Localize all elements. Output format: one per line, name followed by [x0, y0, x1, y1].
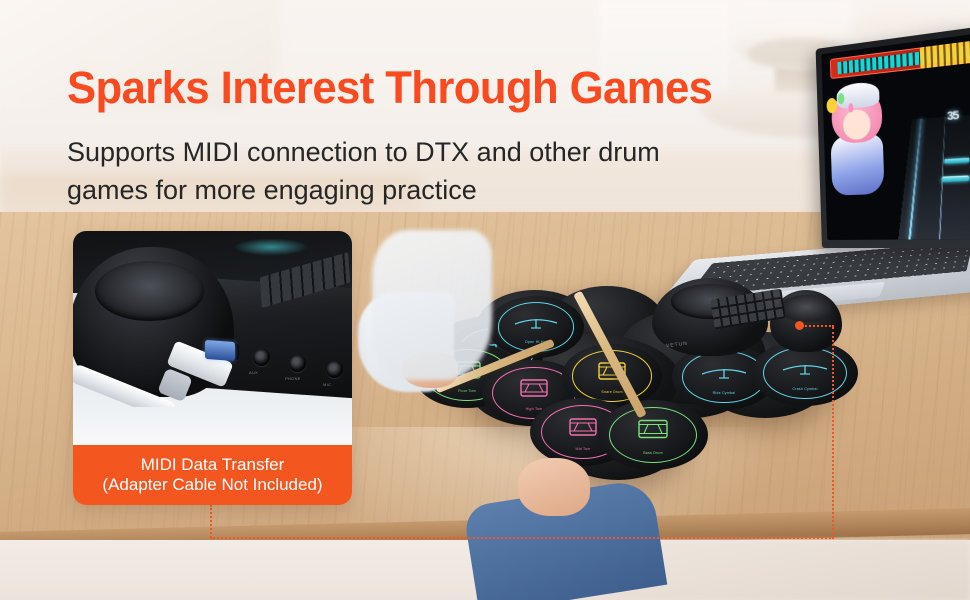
laptop-lid: 35 [816, 12, 970, 248]
inset-audio-jack-aux [253, 349, 270, 366]
pad-label: Ride Cymbal [672, 391, 776, 395]
inset-caption: MIDI Data Transfer (Adapter Cable Not In… [73, 445, 352, 505]
page-subtitle: Supports MIDI connection to DTX and othe… [67, 133, 707, 210]
inset-jack-label-mic: MIC [323, 382, 331, 387]
connector-dash-right [832, 327, 834, 538]
connector-dash-left [210, 505, 212, 538]
roll-up-drum-kit: Crash Cymbal Open Hi-Hat Floor Tom [430, 288, 860, 488]
subtitle-line-1: Supports MIDI connection to DTX and othe… [67, 133, 707, 171]
pad-label: Bass Drum [598, 451, 708, 455]
connector-dash-bottom [210, 537, 834, 539]
person-shoulder [372, 230, 492, 380]
midi-port-inset-card: AUX PHONE MIC MIDI Data Transfer (Adapte… [73, 231, 352, 505]
inset-audio-jack-mic [326, 361, 343, 378]
promo-banner: 35 Crash Cymbal [0, 0, 970, 600]
drum-control-module[interactable]: VETUN [652, 276, 842, 384]
game-note [945, 157, 970, 164]
subtitle-line-2: games for more engaging practice [67, 171, 707, 209]
pad-label: Snare Drum [562, 390, 662, 394]
inset-audio-jack-phone [289, 355, 306, 372]
laptop-screen: 35 [821, 20, 970, 240]
drum-pad-bass-drum[interactable]: Bass Drum [598, 400, 708, 470]
inset-photo: AUX PHONE MIC [73, 231, 352, 453]
pad-label: Crash Cymbal [752, 387, 858, 391]
connector-dash-top [802, 325, 834, 327]
drum-icon [567, 415, 599, 439]
note-lane [909, 119, 922, 240]
usb-c-plug-icon [205, 340, 235, 361]
game-score: 35 [947, 109, 959, 123]
caption-line-1: MIDI Data Transfer [141, 455, 285, 475]
drum-icon [636, 417, 670, 442]
character-body [830, 134, 884, 196]
game-combo-bar [919, 37, 970, 69]
inset-jack-label-aux: AUX [249, 370, 258, 375]
page-title: Sparks Interest Through Games [67, 62, 712, 114]
character-hat [836, 81, 879, 109]
caption-line-2: (Adapter Cable Not Included) [102, 475, 322, 495]
inset-jack-label-phone: PHONE [285, 376, 301, 381]
game-note-highway [899, 107, 970, 239]
drum-icon [518, 376, 550, 400]
game-note [942, 176, 970, 183]
person-hand-right [518, 458, 590, 516]
game-character [825, 80, 898, 203]
cymbal-icon [513, 314, 559, 330]
